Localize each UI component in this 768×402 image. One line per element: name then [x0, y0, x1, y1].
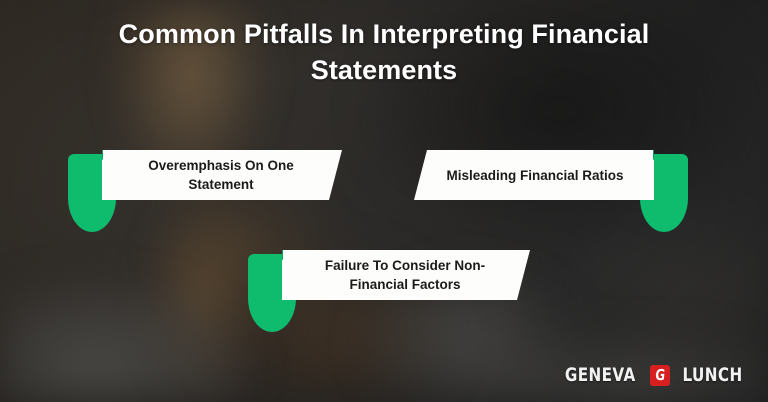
pitfall-item-3: Failure To Consider Non-Financial Factor…: [248, 250, 530, 334]
logo-word-lunch: LUNCH: [682, 364, 742, 386]
pitfall-label-2: Misleading Financial Ratios: [414, 150, 654, 200]
pitfall-label-text-3: Failure To Consider Non-Financial Factor…: [306, 256, 504, 294]
pitfall-label-text-1: Overemphasis On One Statement: [126, 156, 316, 194]
brand-logo[interactable]: GENEVA G LUNCH: [556, 364, 750, 386]
pitfall-label-text-2: Misleading Financial Ratios: [446, 166, 623, 185]
page-title: Common Pitfalls In Interpreting Financia…: [70, 16, 698, 88]
logo-word-geneva: GENEVA: [565, 364, 636, 386]
logo-mark-icon: G: [650, 365, 670, 386]
pitfall-item-2: Misleading Financial Ratios: [414, 150, 688, 234]
pitfall-label-3: Failure To Consider Non-Financial Factor…: [282, 250, 530, 300]
logo-mark-letter: G: [654, 368, 665, 383]
infographic-canvas: Common Pitfalls In Interpreting Financia…: [0, 0, 768, 402]
pitfall-label-1: Overemphasis On One Statement: [102, 150, 342, 200]
pitfall-item-1: Overemphasis On One Statement: [68, 150, 342, 234]
